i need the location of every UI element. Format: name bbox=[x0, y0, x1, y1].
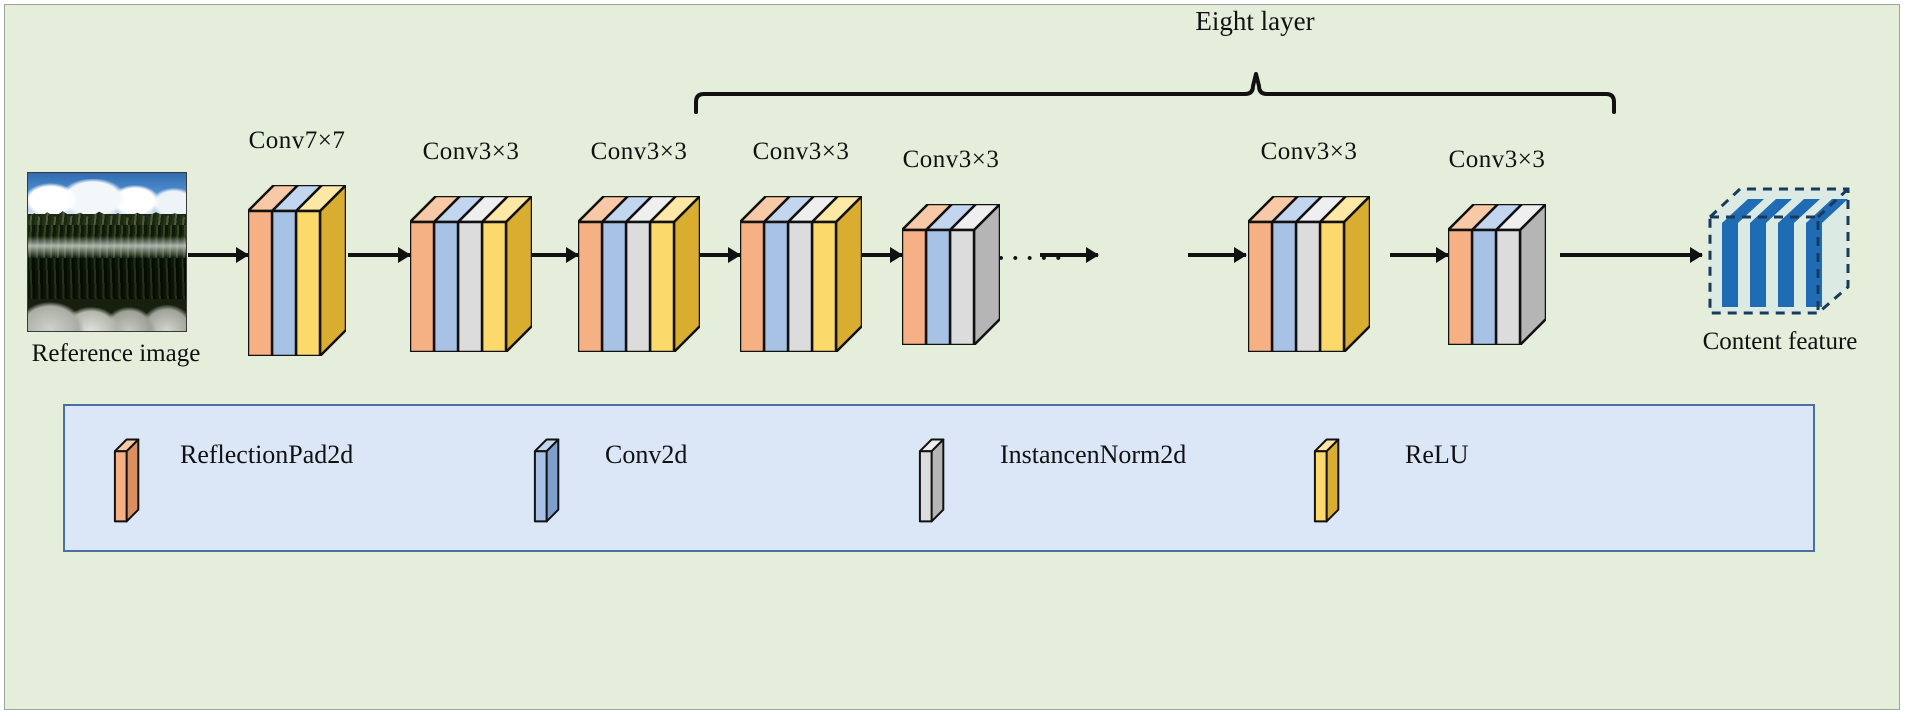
legend-label-relu: ReLU bbox=[1405, 440, 1469, 470]
conv-block-6-title: Conv3×3 bbox=[1261, 138, 1358, 166]
content-feature-block bbox=[1704, 183, 1854, 319]
legend-label-reflectionpad2d: ReflectionPad2d bbox=[180, 440, 353, 470]
slab-instancenorm2d bbox=[1496, 204, 1546, 345]
legend-label-conv2d: Conv2d bbox=[605, 440, 687, 470]
arrow-block-7-to-content-feature bbox=[1560, 253, 1702, 257]
reference-image-label: Reference image bbox=[16, 340, 216, 368]
legend-swatch-reflectionpad2d-icon bbox=[105, 433, 141, 527]
conv-block-6-slabs bbox=[1248, 196, 1370, 352]
conv-block-5-slabs bbox=[902, 204, 1000, 345]
conv-block-2-title: Conv3×3 bbox=[423, 138, 520, 166]
photo-haze bbox=[28, 236, 186, 258]
legend-swatch-instancennorm2d-icon bbox=[910, 433, 946, 527]
arrow-ellipsis-to-block-6 bbox=[1188, 253, 1246, 257]
figure-canvas: Reference image Eight layer ······ Conv7… bbox=[0, 0, 1906, 718]
legend-swatch-relu-icon bbox=[1305, 433, 1341, 527]
slab-relu bbox=[650, 196, 700, 352]
legend-swatch-conv2d-icon bbox=[525, 433, 561, 527]
slab-instancenorm2d bbox=[950, 204, 1000, 345]
eight-layer-brace bbox=[690, 52, 1620, 114]
conv-block-2: Conv3×3 bbox=[410, 196, 532, 352]
content-feature-label: Content feature bbox=[1660, 328, 1900, 356]
conv-block-6: Conv3×3 bbox=[1248, 196, 1370, 352]
conv-block-3-title: Conv3×3 bbox=[591, 138, 688, 166]
photo-rocks bbox=[28, 299, 186, 331]
content-feature-dashed-box bbox=[1704, 183, 1854, 319]
conv-block-7-slabs bbox=[1448, 204, 1546, 345]
conv-block-7-title: Conv3×3 bbox=[1449, 146, 1546, 174]
slab-relu bbox=[1320, 196, 1370, 352]
conv-block-1: Conv7×7 bbox=[248, 185, 346, 356]
slab-relu bbox=[812, 196, 862, 352]
conv-block-4-slabs bbox=[740, 196, 862, 352]
reference-image-thumbnail bbox=[27, 172, 187, 332]
conv-block-1-title: Conv7×7 bbox=[249, 127, 346, 155]
legend-panel: ReflectionPad2dConv2dInstancenNorm2dReLU bbox=[63, 404, 1815, 552]
conv-block-3: Conv3×3 bbox=[578, 196, 700, 352]
conv-block-1-slabs bbox=[248, 185, 346, 356]
conv-block-4-title: Conv3×3 bbox=[753, 138, 850, 166]
conv-block-4: Conv3×3 bbox=[740, 196, 862, 352]
conv-block-5: Conv3×3 bbox=[902, 204, 1000, 345]
conv-block-3-slabs bbox=[578, 196, 700, 352]
photo-clouds bbox=[27, 179, 187, 214]
legend-label-instancennorm2d: InstancenNorm2d bbox=[1000, 440, 1186, 470]
slab-relu bbox=[482, 196, 532, 352]
arrow-block-1-to-2 bbox=[348, 253, 410, 257]
conv-block-5-title: Conv3×3 bbox=[903, 146, 1000, 174]
eight-layer-label: Eight layer bbox=[1110, 6, 1400, 37]
arrow-block-6-to-7 bbox=[1390, 253, 1448, 257]
conv-block-2-slabs bbox=[410, 196, 532, 352]
conv-block-7: Conv3×3 bbox=[1448, 204, 1546, 345]
slab-relu bbox=[296, 185, 346, 356]
arrow-input-to-block-1 bbox=[188, 253, 248, 257]
